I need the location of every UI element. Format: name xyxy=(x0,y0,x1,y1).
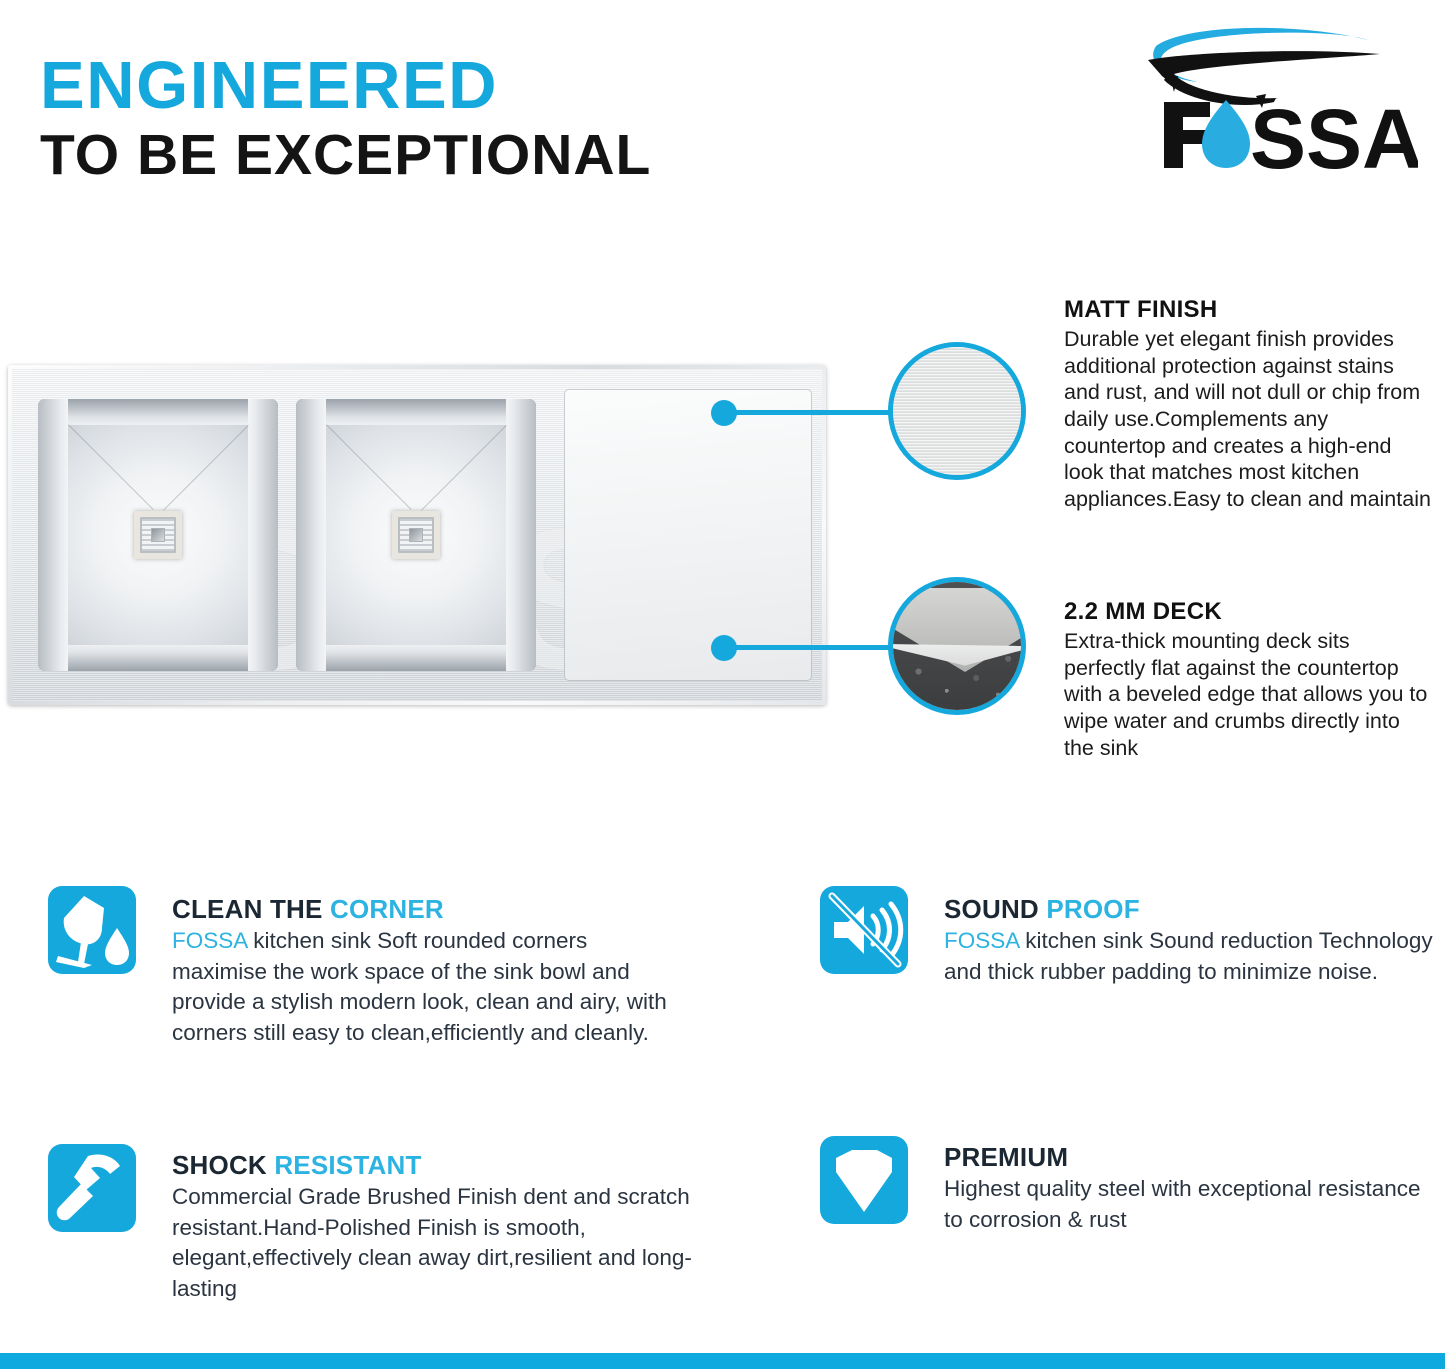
bowl-wall-top xyxy=(296,399,536,425)
wine-glass-droplet-icon xyxy=(48,886,136,974)
feature-text-clean-the-corner: CLEAN THE CORNER FOSSA kitchen sink Soft… xyxy=(172,894,672,1048)
sink-drain-left xyxy=(134,511,182,559)
drain-center-plug xyxy=(409,528,423,542)
feature-title-accent: CORNER xyxy=(330,894,444,924)
bowl-wall-bottom xyxy=(296,645,536,671)
sink-body: FOSSA xyxy=(8,365,826,705)
sink-bowl-right xyxy=(296,399,536,671)
logo-letter-f xyxy=(1164,102,1210,168)
bowl-wall-right xyxy=(506,399,536,671)
headline-line-2: TO BE EXCEPTIONAL xyxy=(40,124,990,188)
matt-finish-texture xyxy=(893,347,1021,475)
callout-line-matt-finish xyxy=(731,410,893,415)
callout-thumb-matt-finish xyxy=(888,342,1026,480)
bowl-wall-top xyxy=(38,399,278,425)
hammer-icon xyxy=(48,1144,136,1232)
fossa-logo: SSA xyxy=(1128,18,1418,180)
diamond-gem-icon-svg xyxy=(820,1136,908,1224)
bowl-wall-left xyxy=(296,399,326,671)
feature-body-rest: kitchen sink Soft rounded corners maximi… xyxy=(172,928,667,1045)
feature-body-clean-the-corner: FOSSA kitchen sink Soft rounded corners … xyxy=(172,926,672,1048)
feature-text-premium: PREMIUM Highest quality steel with excep… xyxy=(944,1142,1444,1235)
feature-title-dark: PREMIUM xyxy=(944,1142,1068,1172)
feature-title-premium: PREMIUM xyxy=(944,1142,1444,1173)
feature-body-shock-resistant: Commercial Grade Brushed Finish dent and… xyxy=(172,1182,717,1304)
callout-title-matt-finish: MATT FINISH xyxy=(1064,296,1434,324)
callout-body-matt-finish: Durable yet elegant finish provides addi… xyxy=(1064,326,1434,513)
diamond-gem-icon xyxy=(820,1136,908,1224)
feature-text-shock-resistant: SHOCK RESISTANT Commercial Grade Brushed… xyxy=(172,1150,717,1304)
feature-brand-mention: FOSSA xyxy=(944,928,1019,953)
callout-text-deck: 2.2 MM DECK Extra-thick mounting deck si… xyxy=(1064,598,1434,761)
feature-body-rest: Highest quality steel with exceptional r… xyxy=(944,1176,1421,1232)
feature-brand-mention: FOSSA xyxy=(172,928,247,953)
bowl-diagonal-2 xyxy=(163,425,249,511)
feature-title-sound-proof: SOUND PROOF xyxy=(944,894,1444,925)
feature-title-dark: CLEAN THE xyxy=(172,894,330,924)
fossa-logo-svg: SSA xyxy=(1128,18,1418,180)
callout-body-deck: Extra-thick mounting deck sits perfectly… xyxy=(1064,628,1434,761)
feature-title-accent: PROOF xyxy=(1046,894,1139,924)
feature-title-dark: SHOCK xyxy=(172,1150,274,1180)
callout-text-matt-finish: MATT FINISH Durable yet elegant finish p… xyxy=(1064,296,1434,513)
drain-center-plug xyxy=(151,528,165,542)
callout-line-deck xyxy=(731,645,893,650)
headline-line-1: ENGINEERED xyxy=(40,52,990,120)
muted-speaker-icon xyxy=(820,886,908,974)
bowl-diagonal-2 xyxy=(421,425,507,511)
wine-glass-droplet-icon-svg xyxy=(48,886,136,974)
callout-thumb-deck xyxy=(888,577,1026,715)
callout-title-deck: 2.2 MM DECK xyxy=(1064,598,1434,626)
feature-body-premium: Highest quality steel with exceptional r… xyxy=(944,1174,1444,1235)
bowl-wall-bottom xyxy=(38,645,278,671)
bowl-diagonal-1 xyxy=(326,424,412,510)
page-headline: ENGINEERED TO BE EXCEPTIONAL xyxy=(40,52,990,188)
feature-title-clean-the-corner: CLEAN THE CORNER xyxy=(172,894,672,925)
feature-title-accent: RESISTANT xyxy=(274,1150,421,1180)
sink-drain-right xyxy=(392,511,440,559)
product-image-sink: FOSSA xyxy=(8,365,826,705)
bowl-diagonal-1 xyxy=(68,424,154,510)
sink-drainboard xyxy=(564,389,812,681)
bowl-wall-left xyxy=(38,399,68,671)
feature-body-sound-proof: FOSSA kitchen sink Sound reduction Techn… xyxy=(944,926,1444,987)
feature-text-sound-proof: SOUND PROOF FOSSA kitchen sink Sound red… xyxy=(944,894,1444,987)
footer-accent-bar xyxy=(0,1353,1445,1369)
muted-speaker-icon-svg xyxy=(820,886,908,974)
feature-title-dark: SOUND xyxy=(944,894,1046,924)
logo-letters-ssa: SSA xyxy=(1250,92,1418,180)
bowl-wall-right xyxy=(248,399,278,671)
sink-bowl-left xyxy=(38,399,278,671)
feature-body-rest: Commercial Grade Brushed Finish dent and… xyxy=(172,1184,692,1301)
hammer-icon-svg xyxy=(48,1144,136,1232)
feature-title-shock-resistant: SHOCK RESISTANT xyxy=(172,1150,717,1181)
